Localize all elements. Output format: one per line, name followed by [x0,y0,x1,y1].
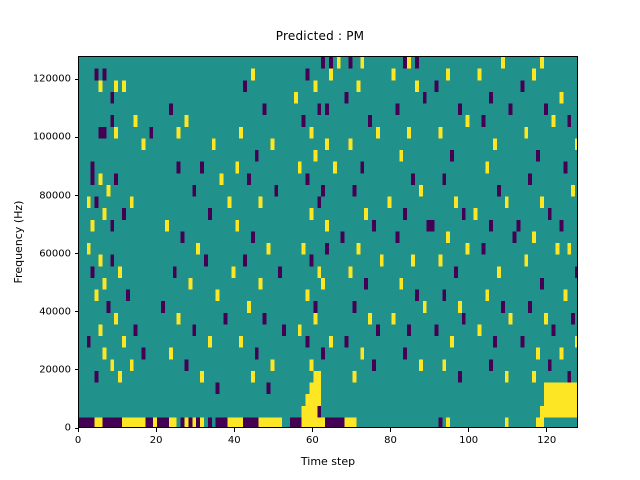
y-tick-label: 60000 [39,248,71,259]
x-tick-label: 40 [228,435,241,446]
y-tick-mark [75,195,79,196]
page-title: Predicted : PM [0,29,640,43]
x-axis-label: Time step [78,455,578,468]
x-tick-mark [546,428,547,432]
heatmap-canvas [79,57,578,428]
x-tick-label: 60 [306,435,319,446]
x-tick-mark [468,428,469,432]
x-tick-mark [234,428,235,432]
y-axis-label-text: Frequency (Hz) [12,201,25,284]
x-tick-mark [156,428,157,432]
y-tick-label: 100000 [33,132,71,143]
x-tick-label: 0 [75,435,81,446]
x-tick-label: 120 [537,435,556,446]
y-tick-mark [75,137,79,138]
x-tick-label: 80 [384,435,397,446]
matplotlib-figure: Predicted : PM 0200004000060000800001000… [0,0,640,480]
heatmap-axes [78,56,578,428]
x-tick-mark [390,428,391,432]
x-tick-mark [78,428,79,432]
y-tick-mark [75,79,79,80]
y-tick-label: 120000 [33,74,71,85]
y-tick-mark [75,369,79,370]
y-tick-mark [75,311,79,312]
y-tick-mark [75,253,79,254]
x-tick-mark [312,428,313,432]
y-tick-label: 0 [65,423,71,434]
y-tick-label: 20000 [39,364,71,375]
y-tick-label: 80000 [39,190,71,201]
x-tick-label: 100 [459,435,478,446]
y-tick-label: 40000 [39,306,71,317]
x-tick-label: 20 [150,435,163,446]
